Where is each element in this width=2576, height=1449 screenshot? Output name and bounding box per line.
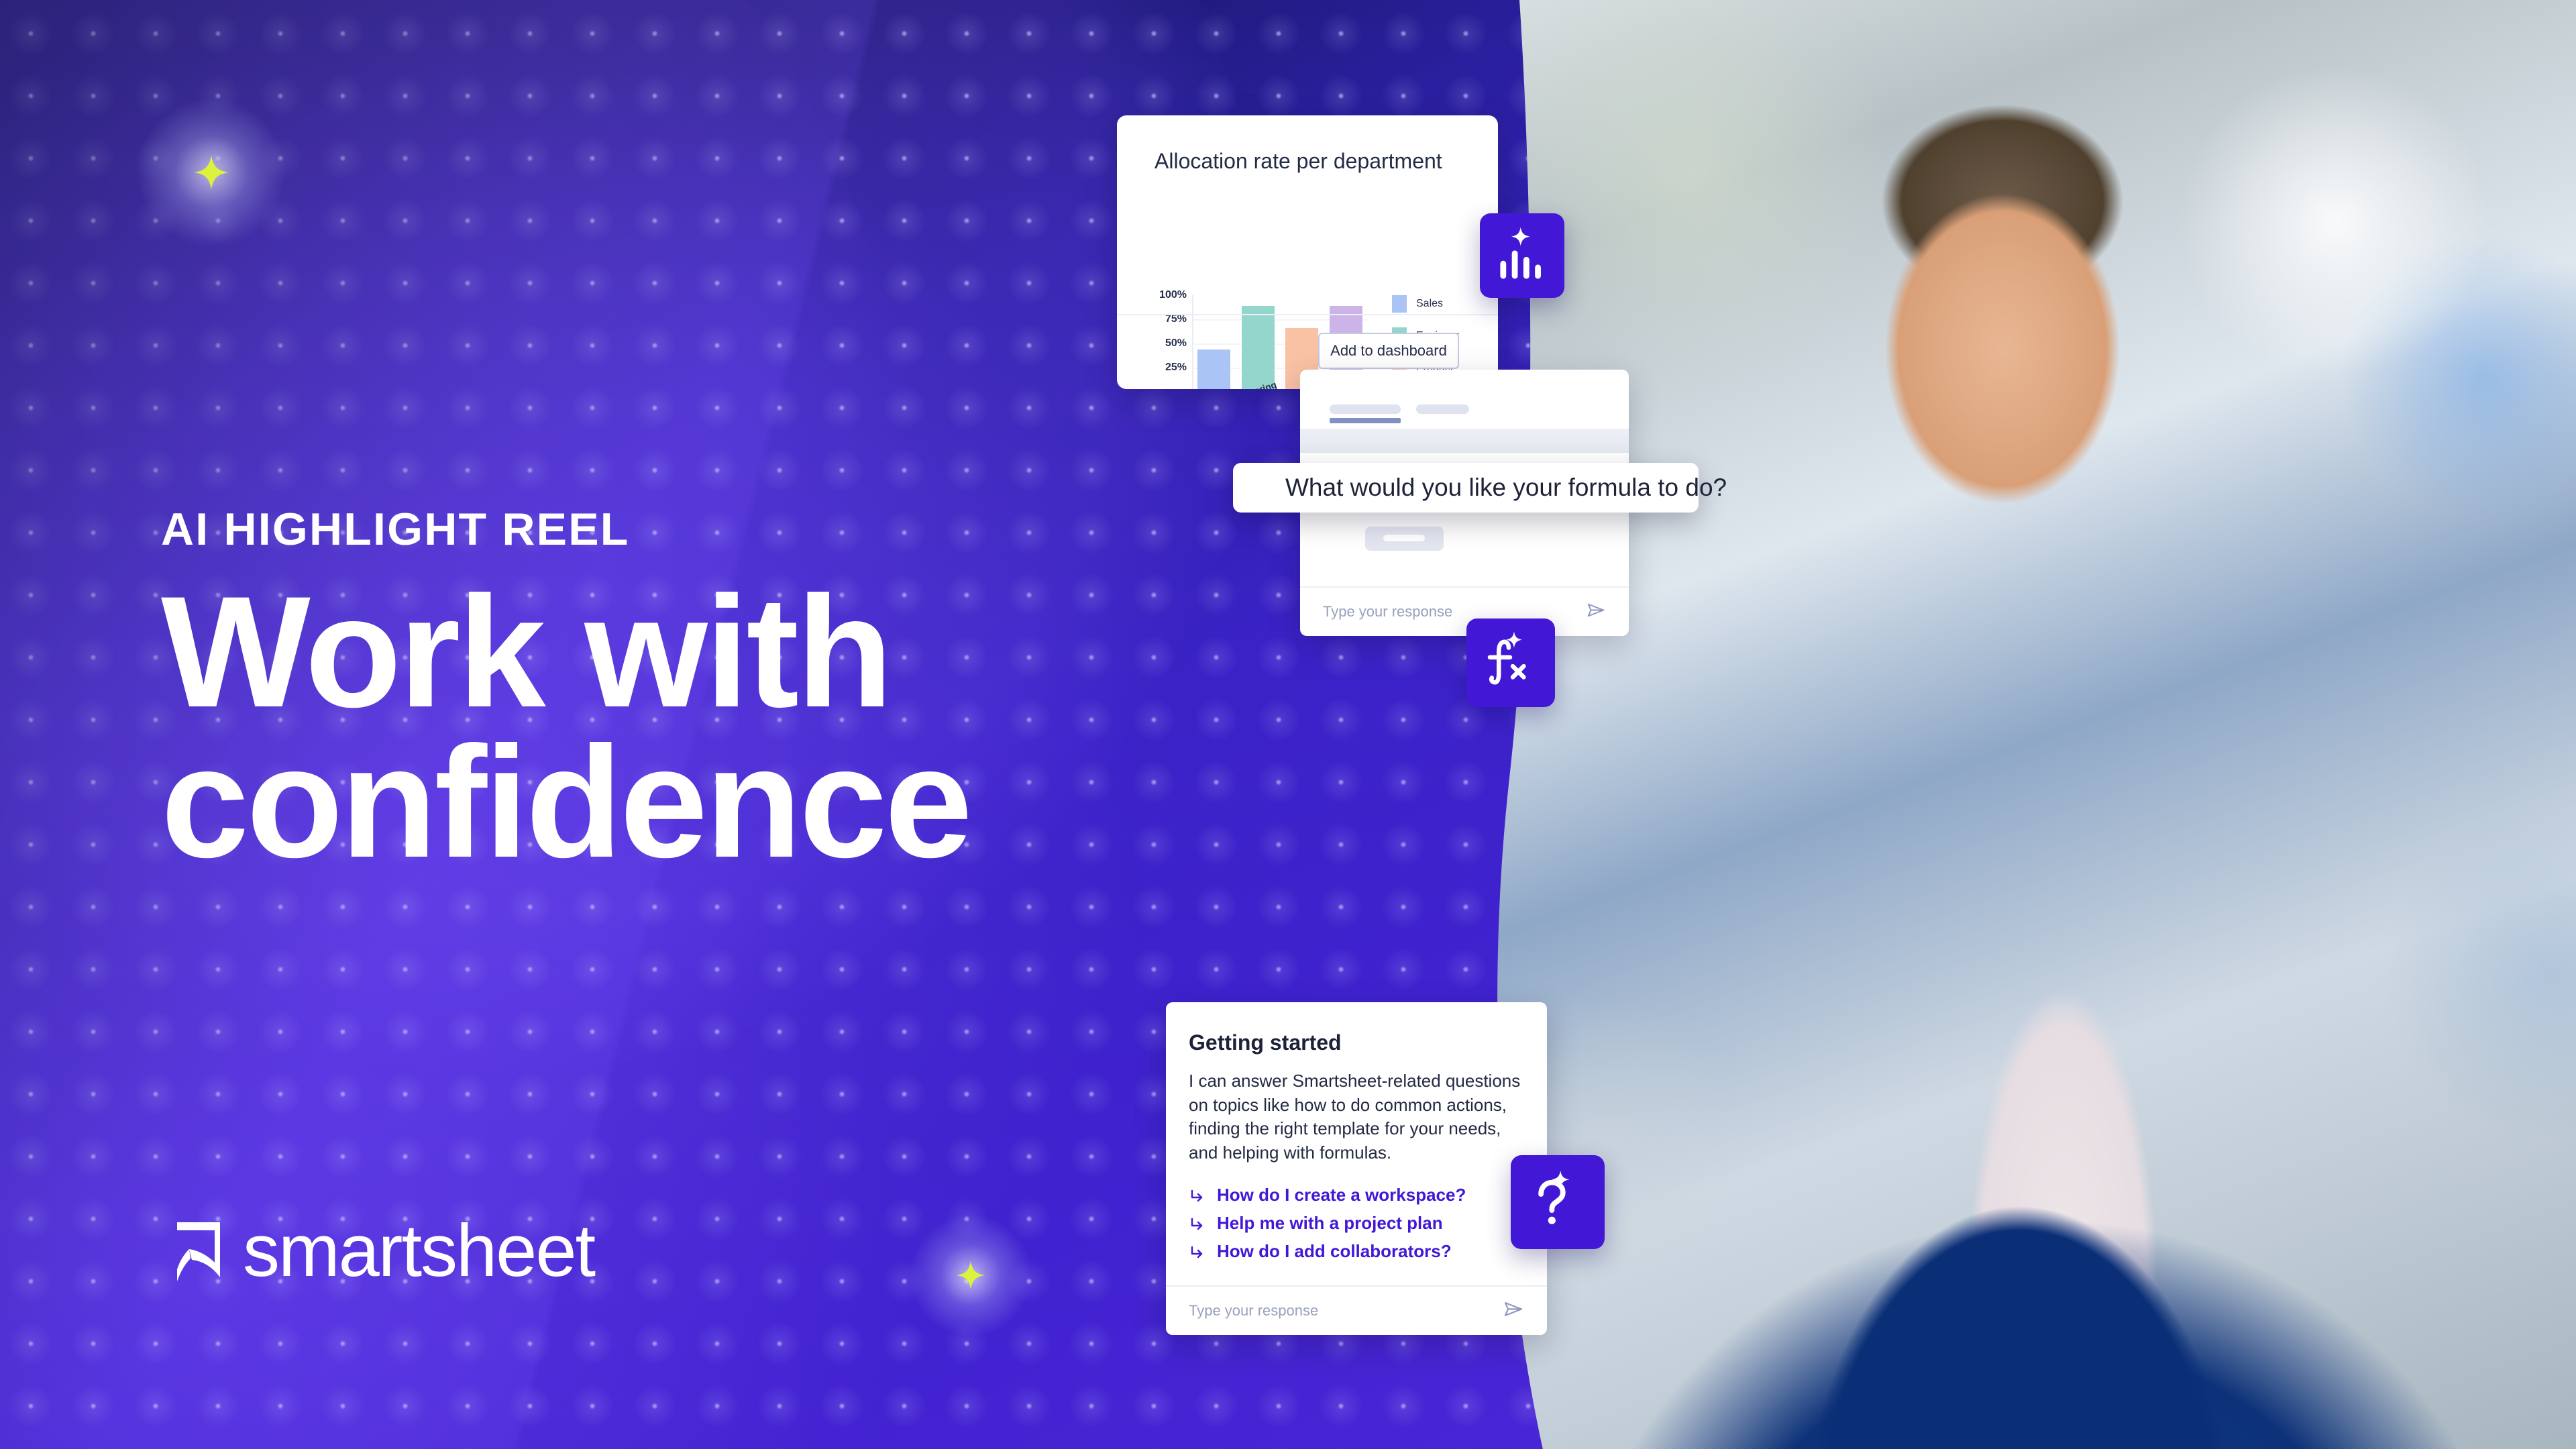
arrow-turn-down-right-icon bbox=[1189, 1187, 1205, 1203]
formula-composer[interactable]: Type your response bbox=[1300, 586, 1629, 636]
y-tick-100: 100% bbox=[1159, 289, 1187, 301]
getting-started-title: Getting started bbox=[1189, 1030, 1342, 1055]
bar-engineering bbox=[1242, 306, 1275, 389]
chart-title: Allocation rate per department bbox=[1155, 149, 1442, 174]
ai-formula-badge[interactable] bbox=[1466, 619, 1555, 707]
legend-item-sales: Sales bbox=[1392, 295, 1459, 313]
suggestion-label: How do I create a workspace? bbox=[1217, 1185, 1466, 1205]
suggestion-add-collaborators[interactable]: How do I add collaborators? bbox=[1189, 1241, 1466, 1262]
formula-composer-placeholder: Type your response bbox=[1323, 603, 1452, 621]
smartsheet-checkmark-logo-icon bbox=[176, 1220, 225, 1283]
skeleton-active-tab-underline bbox=[1330, 418, 1401, 423]
sparkle-star-top-left bbox=[193, 154, 230, 191]
smartsheet-logo: smartsheet bbox=[176, 1214, 594, 1288]
add-to-dashboard-button[interactable]: Add to dashboard bbox=[1318, 333, 1459, 369]
legend-swatch-sales bbox=[1392, 295, 1407, 313]
y-tick-25: 25% bbox=[1165, 362, 1187, 374]
eyebrow-label: AI HIGHLIGHT REEL bbox=[161, 503, 630, 555]
page-title: Work with confidence bbox=[161, 577, 1167, 877]
send-paper-plane-icon[interactable] bbox=[1503, 1299, 1524, 1324]
sparkle-star-bottom bbox=[955, 1260, 986, 1291]
arrow-turn-down-right-icon bbox=[1189, 1244, 1205, 1260]
suggestion-project-plan[interactable]: Help me with a project plan bbox=[1189, 1213, 1466, 1234]
headline-line-2: confidence bbox=[161, 727, 1167, 877]
hero-banner: AI HIGHLIGHT REEL Work with confidence s… bbox=[0, 0, 2576, 1449]
chart-card-divider bbox=[1117, 314, 1498, 315]
smartsheet-wordmark: smartsheet bbox=[243, 1214, 594, 1288]
getting-started-composer[interactable]: Type your response bbox=[1166, 1285, 1547, 1335]
skeleton-chip bbox=[1365, 527, 1444, 551]
arrow-turn-down-right-icon bbox=[1189, 1216, 1205, 1232]
suggestion-label: How do I add collaborators? bbox=[1217, 1241, 1452, 1262]
bar-sales bbox=[1197, 350, 1230, 389]
ai-chart-badge[interactable] bbox=[1480, 213, 1564, 298]
suggestion-create-workspace[interactable]: How do I create a workspace? bbox=[1189, 1185, 1466, 1205]
getting-started-body: I can answer Smartsheet-related question… bbox=[1189, 1069, 1524, 1165]
skeleton-toolbar-band bbox=[1300, 429, 1629, 453]
getting-started-suggestions: How do I create a workspace? Help me wit… bbox=[1189, 1185, 1466, 1262]
send-paper-plane-icon[interactable] bbox=[1586, 600, 1606, 624]
suggestion-label: Help me with a project plan bbox=[1217, 1213, 1443, 1234]
getting-started-card: Getting started I can answer Smartsheet-… bbox=[1166, 1002, 1547, 1335]
getting-started-composer-placeholder: Type your response bbox=[1189, 1302, 1318, 1320]
formula-prompt-input[interactable]: What would you like your formula to do? bbox=[1233, 463, 1699, 513]
skeleton-tab-1 bbox=[1330, 405, 1401, 414]
skeleton-tab-2 bbox=[1416, 405, 1469, 414]
ai-help-badge[interactable] bbox=[1511, 1155, 1605, 1249]
y-tick-50: 50% bbox=[1165, 337, 1187, 350]
formula-prompt-text: What would you like your formula to do? bbox=[1285, 474, 1727, 502]
legend-label-sales: Sales bbox=[1416, 298, 1443, 310]
chart-y-axis: 100% 75% 50% 25% bbox=[1153, 295, 1191, 389]
chart-card: Allocation rate per department 100% 75% … bbox=[1117, 115, 1498, 389]
